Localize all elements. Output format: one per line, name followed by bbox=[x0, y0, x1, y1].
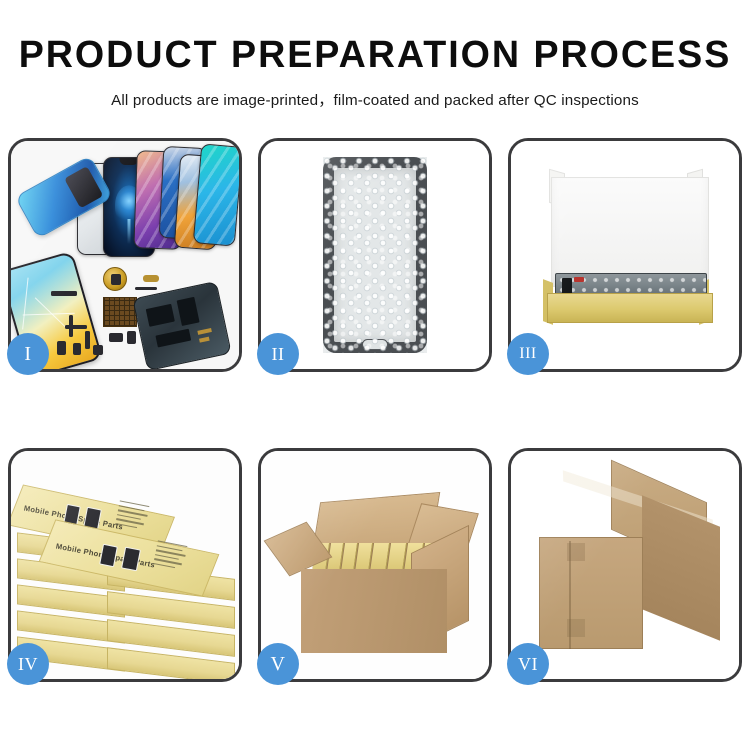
kraft-box-front bbox=[547, 293, 713, 323]
carton-front-face bbox=[301, 569, 447, 653]
product-preparation-infographic: PRODUCT PREPARATION PROCESS All products… bbox=[0, 0, 750, 750]
step-badge-6: VI bbox=[507, 643, 549, 685]
carton-interior bbox=[551, 177, 709, 287]
step-3-image bbox=[511, 141, 739, 369]
chip-grid-component bbox=[103, 297, 137, 327]
step-6-image bbox=[511, 451, 739, 679]
page-subtitle: All products are image-printed，film-coat… bbox=[0, 88, 750, 110]
step-badge-4: IV bbox=[7, 643, 49, 685]
process-step-panel-1: I bbox=[8, 138, 242, 372]
step-badge-3: III bbox=[507, 333, 549, 375]
process-step-panel-4: Mobile Phone Spare Parts Mobile Phone Sp… bbox=[8, 448, 242, 682]
step-badge-2: II bbox=[257, 333, 299, 375]
step-2-image bbox=[261, 141, 489, 369]
coil-component bbox=[103, 267, 127, 291]
process-step-panel-6: VI bbox=[508, 448, 742, 682]
stacked-retail-boxes: Mobile Phone Spare Parts Mobile Phone Sp… bbox=[15, 477, 239, 677]
process-step-panel-2: II bbox=[258, 138, 492, 372]
process-step-panel-3: III bbox=[508, 138, 742, 372]
phone-teal-screen bbox=[193, 143, 239, 246]
step-badge-5: V bbox=[257, 643, 299, 685]
process-step-panel-5: V bbox=[258, 448, 492, 682]
step-4-image: Mobile Phone Spare Parts Mobile Phone Sp… bbox=[11, 451, 239, 679]
step-5-image bbox=[261, 451, 489, 679]
process-steps-grid: I II bbox=[8, 138, 742, 682]
header: PRODUCT PREPARATION PROCESS All products… bbox=[0, 36, 750, 110]
step-1-image bbox=[11, 141, 239, 369]
sealed-carton-front-face bbox=[539, 537, 643, 649]
step-badge-1: I bbox=[7, 333, 49, 375]
bubble-wrapped-screen bbox=[323, 157, 427, 353]
page-title: PRODUCT PREPARATION PROCESS bbox=[4, 36, 747, 76]
